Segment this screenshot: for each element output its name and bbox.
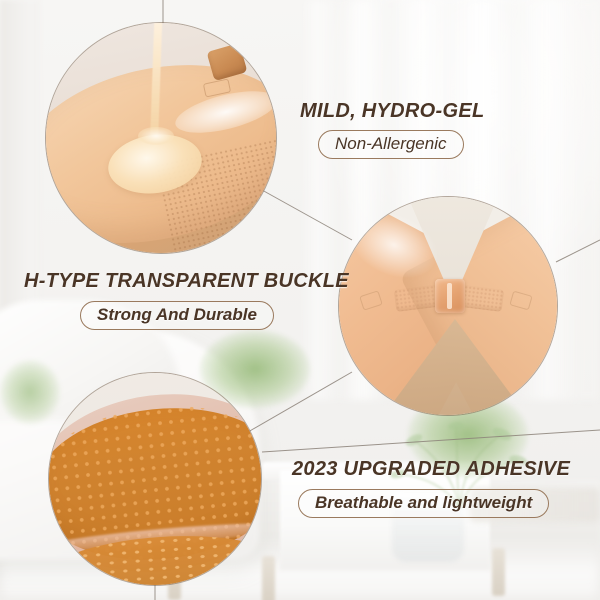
background-furniture-leg: [492, 548, 505, 596]
feature-pill: Non-Allergenic: [318, 130, 464, 159]
feature-photo-adhesive: [48, 372, 262, 586]
buckle-clasp: [435, 279, 465, 313]
feature-photo-buckle: [338, 196, 558, 416]
feature-pill: Strong And Durable: [80, 301, 274, 330]
feature-photo-hydro-gel: [45, 22, 277, 254]
feature-label-hydro-gel: MILD, HYDRO-GEL Non-Allergenic: [300, 100, 485, 159]
background-furniture-leg: [262, 556, 275, 600]
feature-headline: MILD, HYDRO-GEL: [300, 100, 485, 123]
product-feature-infographic: MILD, HYDRO-GEL Non-Allergenic H-TYPE TR…: [0, 0, 600, 600]
feature-headline: H-TYPE TRANSPARENT BUCKLE: [24, 270, 349, 293]
feature-pill: Breathable and lightweight: [298, 489, 549, 518]
gel-splash: [138, 127, 174, 145]
feature-headline: 2023 UPGRADED ADHESIVE: [292, 458, 570, 481]
feature-label-adhesive: 2023 UPGRADED ADHESIVE Breathable and li…: [292, 458, 570, 518]
feature-label-buckle: H-TYPE TRANSPARENT BUCKLE Strong And Dur…: [24, 270, 349, 330]
